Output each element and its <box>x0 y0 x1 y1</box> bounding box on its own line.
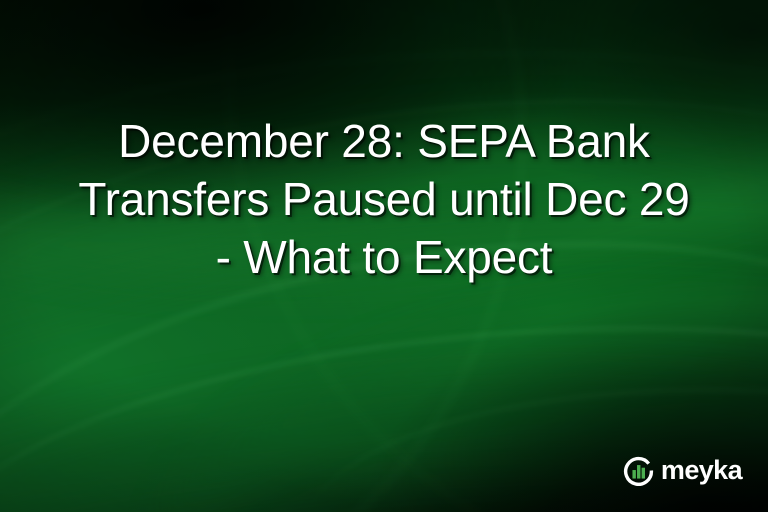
headline-line-1: December 28: SEPA Bank <box>14 112 754 170</box>
meyka-wordmark: meyka <box>661 457 742 484</box>
meyka-circle-bar-chart-icon <box>623 455 654 486</box>
meyka-logo[interactable]: meyka <box>623 455 742 486</box>
article-share-banner: December 28: SEPA Bank Transfers Paused … <box>0 0 768 512</box>
headline-line-3: - What to Expect <box>14 228 754 286</box>
banner-headline: December 28: SEPA Bank Transfers Paused … <box>0 112 768 286</box>
headline-line-2: Transfers Paused until Dec 29 <box>14 170 754 228</box>
